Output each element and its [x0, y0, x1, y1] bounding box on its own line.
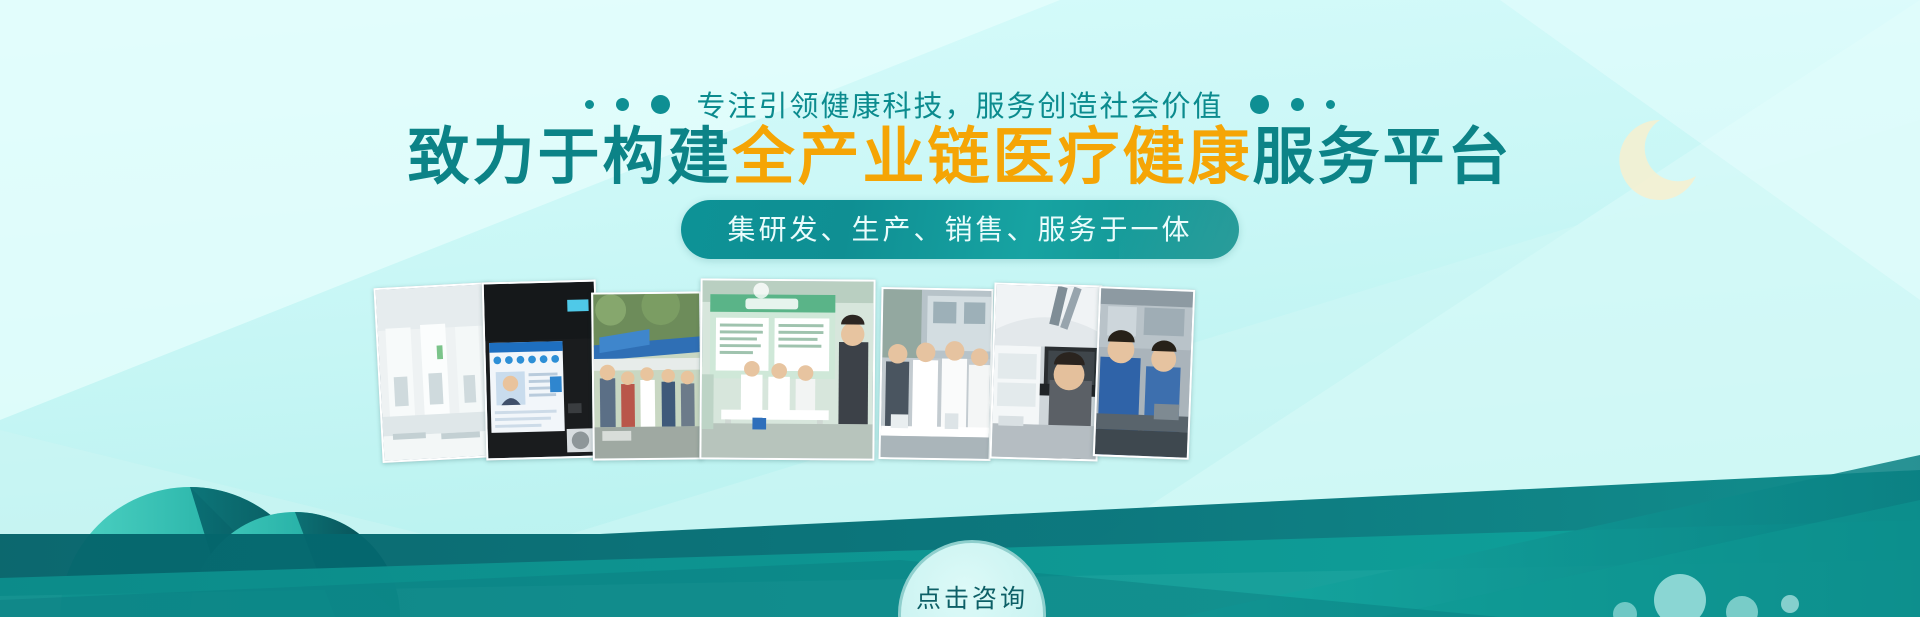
dot-small-icon [1326, 100, 1335, 109]
consult-button-label: 点击咨询 [916, 579, 1028, 615]
promo-banner: 专注引领健康科技，服务创造社会价值 致力于构建全产业链医疗健康服务平台 集研发、… [0, 0, 1920, 617]
headline-part-2: 服务平台 [1253, 123, 1513, 192]
dot-medium-icon [616, 98, 629, 111]
tagline-row: 专注引领健康科技，服务创造社会价值 [0, 83, 1920, 125]
dot-small-icon [585, 100, 594, 109]
dots-right [1250, 95, 1335, 114]
headline-part-1: 致力于构建 [407, 123, 732, 192]
dot-large-icon [1250, 95, 1269, 114]
photo-outdoor-clinic-tent [591, 291, 703, 460]
photo-technician-monitor [990, 283, 1103, 462]
photo-health-hut-booth [699, 278, 875, 460]
dot-large-icon [651, 95, 670, 114]
photo-blue-uniform-worker [1093, 286, 1195, 460]
dot-medium-icon [1291, 98, 1304, 111]
photo-health-kiosk-screen [482, 280, 601, 461]
photo-doctors-outdoor [879, 287, 994, 461]
subtitle-pill-wrap: 集研发、生产、销售、服务于一体 [0, 200, 1920, 259]
tagline-text: 专注引领健康科技，服务创造社会价值 [696, 83, 1223, 125]
headline: 致力于构建全产业链医疗健康服务平台 [0, 122, 1920, 194]
dots-left [585, 95, 670, 114]
subtitle-pill: 集研发、生产、销售、服务于一体 [681, 200, 1238, 259]
headline-highlight: 全产业链医疗健康 [732, 123, 1252, 192]
